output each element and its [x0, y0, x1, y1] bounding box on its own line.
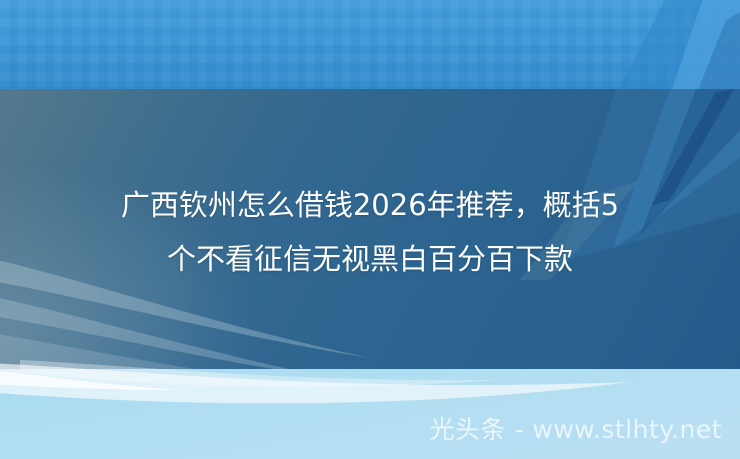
article-cover-banner: 广西钦州怎么借钱2026年推荐，概括5 个不看征信无视黑白百分百下款 光头条 -…: [0, 0, 740, 459]
headline-text: 广西钦州怎么借钱2026年推荐，概括5 个不看征信无视黑白百分百下款: [0, 178, 740, 286]
bottom-color-band: [0, 369, 740, 459]
grid-texture-overlay: [0, 0, 740, 89]
site-watermark: 光头条 - www.stlhty.net: [429, 415, 722, 445]
top-color-band: [0, 0, 740, 89]
